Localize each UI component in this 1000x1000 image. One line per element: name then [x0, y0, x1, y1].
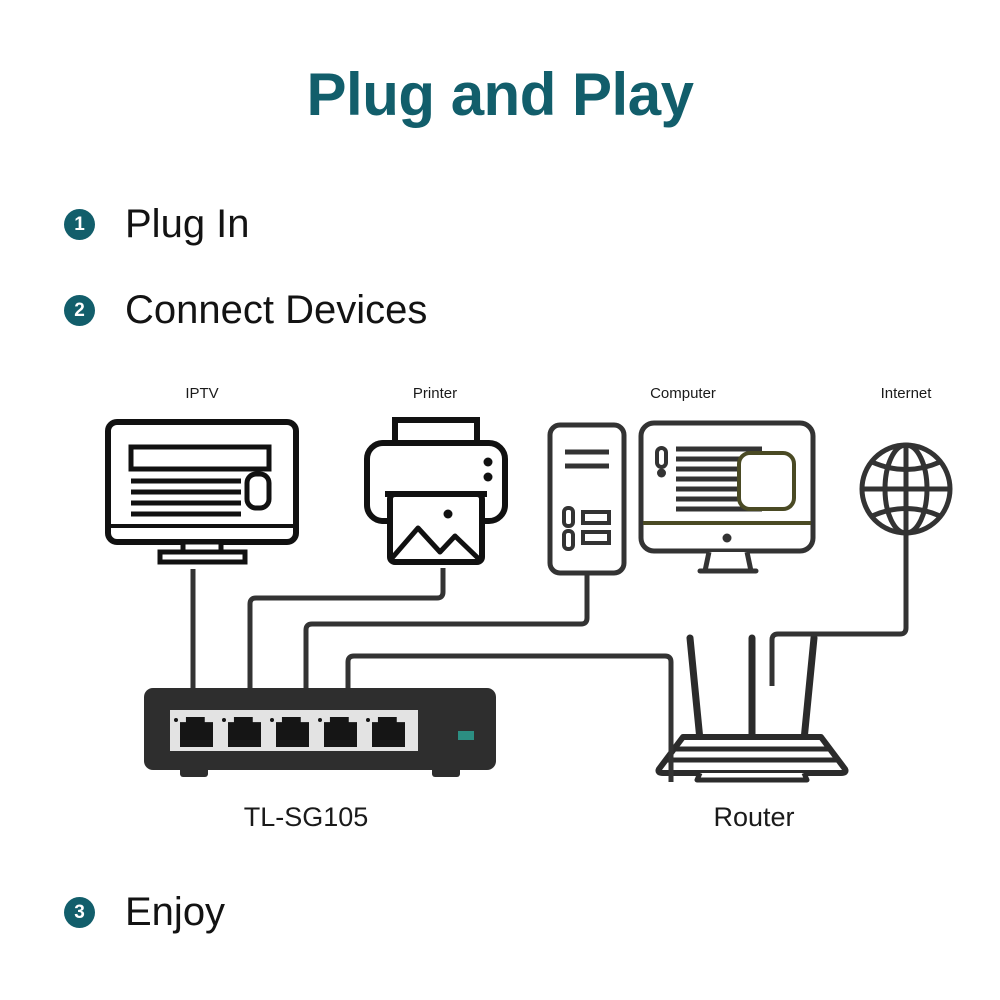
switch-foot-left	[180, 768, 208, 777]
port-led-4	[318, 718, 322, 722]
switch-foot-right	[432, 768, 460, 777]
switch-port-1	[174, 717, 213, 747]
globe-icon	[862, 445, 950, 533]
port-jack-2	[228, 717, 261, 747]
switch-port-panel	[170, 710, 418, 751]
television-icon	[108, 422, 296, 562]
switch-port-3	[270, 717, 309, 747]
poster-root: Plug and Play 1 Plug In 2 Connect Device…	[0, 0, 1000, 1000]
wifi-router-icon	[659, 638, 846, 780]
switch-port-2	[222, 717, 261, 747]
monitor-icon	[641, 423, 813, 571]
network-switch-icon	[144, 688, 496, 780]
pc-tower-icon	[550, 425, 624, 573]
network-diagram	[0, 0, 1000, 1000]
printer-icon	[367, 420, 505, 562]
port-led-2	[222, 718, 226, 722]
port-led-1	[174, 718, 178, 722]
port-led-3	[270, 718, 274, 722]
switch-port-5	[366, 717, 405, 747]
port-jack-5	[372, 717, 405, 747]
port-jack-3	[276, 717, 309, 747]
port-jack-4	[324, 717, 357, 747]
switch-status-led	[458, 731, 474, 740]
port-jack-1	[180, 717, 213, 747]
cable-internet-router	[772, 534, 906, 686]
switch-port-4	[318, 717, 357, 747]
port-led-5	[366, 718, 370, 722]
